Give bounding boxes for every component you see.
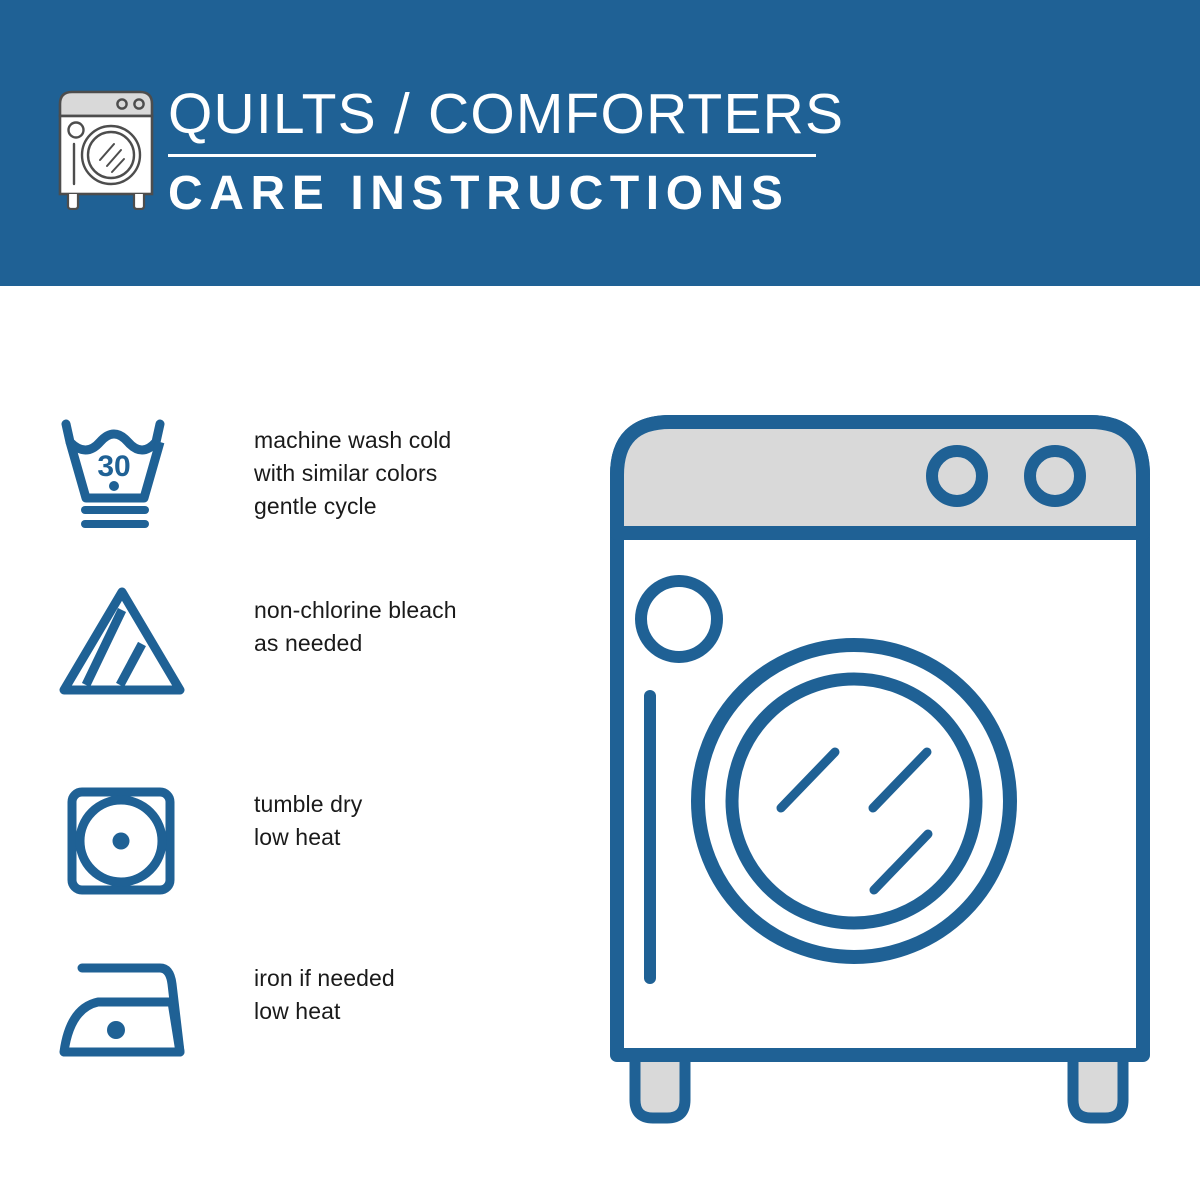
care-line: machine wash cold <box>254 424 524 457</box>
door-slash-ring <box>732 679 976 923</box>
care-line: low heat <box>254 821 524 854</box>
wash-temperature-label: 30 <box>97 450 130 483</box>
care-line: with similar colors <box>254 457 524 490</box>
care-row-bleach: non-chlorine bleach as needed <box>56 586 526 736</box>
care-line: as needed <box>254 627 524 660</box>
page-subtitle: CARE INSTRUCTIONS <box>168 165 828 223</box>
non-chlorine-bleach-triangle-icon <box>56 586 196 706</box>
washing-machine-illustration <box>595 400 1165 1130</box>
care-line: low heat <box>254 995 524 1028</box>
care-text-iron: iron if needed low heat <box>254 962 524 1028</box>
knob-right <box>1030 451 1080 501</box>
care-line: gentle cycle <box>254 490 524 523</box>
knob-left <box>932 451 982 501</box>
care-row-iron: iron if needed low heat <box>56 954 526 1104</box>
care-text-machine-wash: machine wash cold with similar colors ge… <box>254 424 524 523</box>
care-text-bleach: non-chlorine bleach as needed <box>254 594 524 660</box>
care-line: non-chlorine bleach <box>254 594 524 627</box>
page-title: QUILTS / COMFORTERS <box>168 80 828 148</box>
page-header: QUILTS / COMFORTERS CARE INSTRUCTIONS <box>0 0 1200 286</box>
dispenser-circle <box>641 581 717 657</box>
iron-low-heat-icon <box>56 954 196 1074</box>
care-instructions-page: QUILTS / COMFORTERS CARE INSTRUCTIONS 30 <box>0 0 1200 1200</box>
tumble-dry-low-heat-icon <box>56 780 196 900</box>
header-title-block: QUILTS / COMFORTERS CARE INSTRUCTIONS <box>168 80 828 223</box>
care-line: iron if needed <box>254 962 524 995</box>
care-row-machine-wash: 30 machine wash cold with similar colors… <box>56 416 526 566</box>
care-text-tumble-dry: tumble dry low heat <box>254 788 524 854</box>
washing-machine-icon <box>52 82 160 210</box>
care-line: tumble dry <box>254 788 524 821</box>
machine-wash-30-gentle-icon: 30 <box>56 416 196 536</box>
title-divider <box>168 154 816 157</box>
care-instruction-list: 30 machine wash cold with similar colors… <box>0 286 560 1200</box>
care-row-tumble-dry: tumble dry low heat <box>56 780 526 930</box>
